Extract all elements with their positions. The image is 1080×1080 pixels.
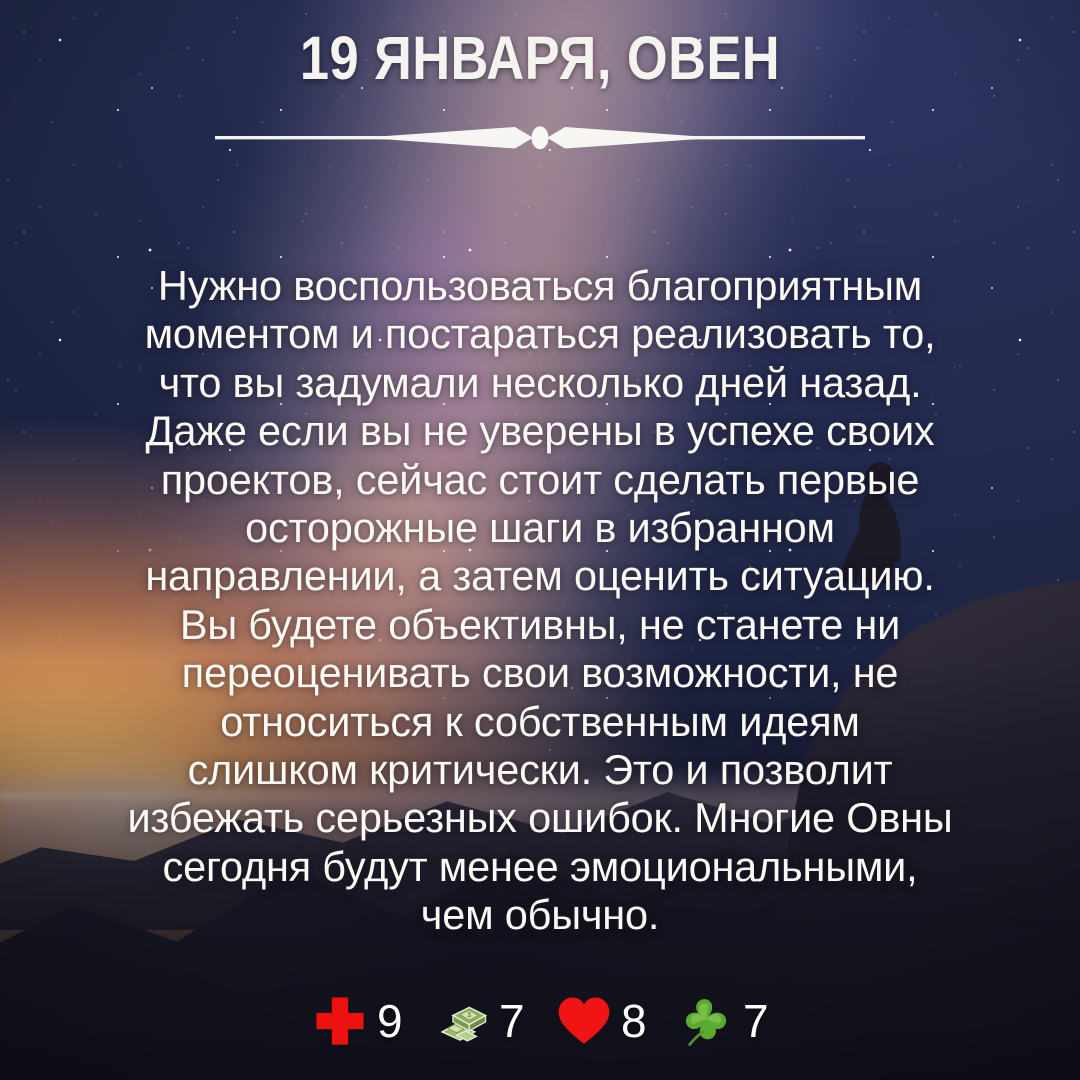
ratings-row: 9 $ bbox=[0, 990, 1080, 1052]
page-title: 19 ЯНВАРЯ, ОВЕН bbox=[76, 26, 1005, 90]
rating-money: $ 7 bbox=[431, 990, 527, 1052]
red-heart-love-icon bbox=[553, 990, 615, 1052]
rating-love: 8 bbox=[553, 990, 649, 1052]
rating-health-value: 9 bbox=[377, 998, 405, 1044]
svg-text:$: $ bbox=[467, 1010, 471, 1019]
diamond-ornament-divider-icon bbox=[215, 118, 865, 158]
four-leaf-clover-icon bbox=[675, 990, 737, 1052]
rating-health: 9 bbox=[309, 990, 405, 1052]
rating-luck: 7 bbox=[675, 990, 771, 1052]
red-cross-health-icon bbox=[309, 990, 371, 1052]
rating-luck-value: 7 bbox=[743, 998, 771, 1044]
horoscope-card: 19 ЯНВАРЯ, ОВЕН Нужно воспользоваться бл… bbox=[0, 0, 1080, 1080]
money-stack-icon: $ bbox=[431, 990, 493, 1052]
horoscope-body-text: Нужно воспользоваться благоприятным моме… bbox=[56, 262, 1024, 940]
rating-money-value: 7 bbox=[499, 998, 527, 1044]
rating-love-value: 8 bbox=[621, 998, 649, 1044]
